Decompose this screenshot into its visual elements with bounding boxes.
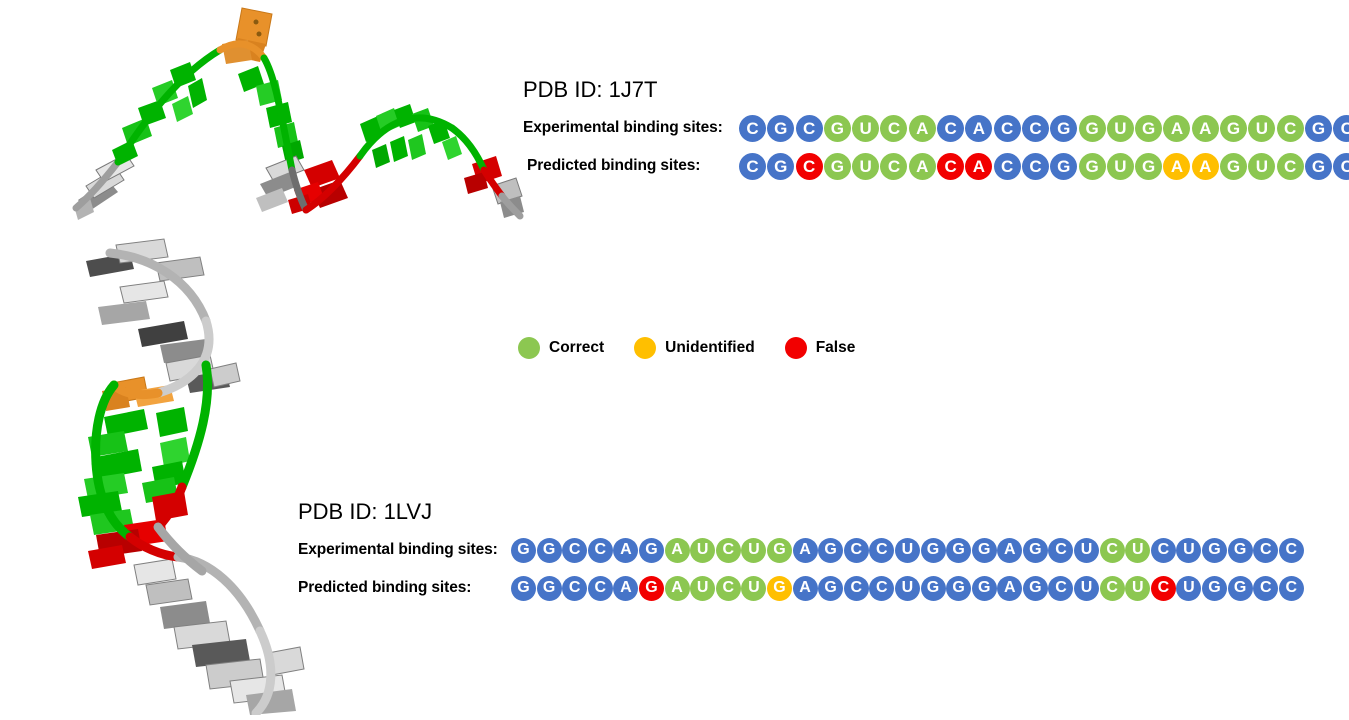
nucleotide-U-5: U (852, 153, 879, 180)
predicted-sequence-1j7t: CGCGUCACACCGGUGAAGUCGC (739, 153, 1349, 180)
nucleotide-U-27: U (1176, 538, 1201, 563)
nucleotide-U-25: U (1125, 576, 1150, 601)
nucleotide-A-20: A (997, 576, 1022, 601)
nucleotide-U-23: U (1074, 538, 1099, 563)
nucleotide-G-13: G (1079, 153, 1106, 180)
panel-1lvj: PDB ID: 1LVJ Experimental binding sites:… (298, 500, 1304, 605)
nucleotide-C-26: C (1151, 576, 1176, 601)
nucleotide-A-12: A (793, 576, 818, 601)
nucleotide-C-3: C (562, 538, 587, 563)
nucleotide-U-27: U (1176, 576, 1201, 601)
nucleotide-G-2: G (767, 115, 794, 142)
legend-item-false: False (785, 337, 856, 359)
prediction-outcome-legend: CorrectUnidentifiedFalse (518, 337, 855, 359)
nucleotide-C-6: C (880, 153, 907, 180)
nucleotide-C-24: C (1100, 576, 1125, 601)
nucleotide-G-4: G (824, 153, 851, 180)
nucleotide-G-17: G (921, 576, 946, 601)
nucleotide-U-25: U (1125, 538, 1150, 563)
nucleotide-A-7: A (909, 115, 936, 142)
experimental-row-1lvj: Experimental binding sites: GGCCAGAUCUGA… (298, 533, 1304, 567)
structure-1j7t-backbone (76, 44, 520, 216)
nucleotide-C-15: C (869, 538, 894, 563)
nucleotide-G-1: G (511, 576, 536, 601)
nucleotide-C-24: C (1100, 538, 1125, 563)
nucleotide-A-9: A (965, 153, 992, 180)
nucleotide-G-19: G (972, 576, 997, 601)
nucleotide-G-21: G (1305, 115, 1332, 142)
nucleotide-C-4: C (588, 538, 613, 563)
nucleotide-C-31: C (1279, 538, 1304, 563)
red-circle-icon (785, 337, 807, 359)
nucleotide-C-11: C (1022, 115, 1049, 142)
nucleotide-C-26: C (1151, 538, 1176, 563)
legend-label: Unidentified (665, 339, 755, 357)
nucleotide-C-8: C (937, 115, 964, 142)
nucleotide-G-12: G (1050, 115, 1077, 142)
nucleotide-G-18: G (946, 538, 971, 563)
rna-structure-1lvj-svg (60, 235, 390, 715)
nucleotide-G-19: G (972, 538, 997, 563)
pdb-title-1lvj: PDB ID: 1LVJ (298, 500, 1304, 524)
nucleotide-G-4: G (824, 115, 851, 142)
predicted-row-1lvj: Predicted binding sites: GGCCAGAUCUGAGCC… (298, 571, 1304, 605)
nucleotide-C-1: C (739, 153, 766, 180)
experimental-sequence-1lvj: GGCCAGAUCUGAGCCUGGGAGCUCUCUGGCC (511, 538, 1304, 563)
experimental-sequence-1j7t: CGCGUCACACCGGUGAAGUCGC (739, 115, 1349, 142)
nucleotide-A-9: A (965, 115, 992, 142)
nucleotide-C-14: C (844, 538, 869, 563)
nucleotide-U-19: U (1248, 153, 1275, 180)
nucleotide-C-11: C (1022, 153, 1049, 180)
nucleotide-G-21: G (1023, 576, 1048, 601)
nucleotide-U-8: U (690, 538, 715, 563)
nucleotide-G-21: G (1023, 538, 1048, 563)
legend-label: Correct (549, 339, 604, 357)
nucleotide-U-23: U (1074, 576, 1099, 601)
green-circle-icon (518, 337, 540, 359)
predicted-label-1lvj: Predicted binding sites: (298, 579, 511, 597)
experimental-label-1lvj: Experimental binding sites: (298, 541, 511, 559)
nucleotide-G-2: G (537, 576, 562, 601)
nucleotide-U-16: U (895, 538, 920, 563)
nucleotide-G-21: G (1305, 153, 1332, 180)
legend-item-correct: Correct (518, 337, 604, 359)
nucleotide-C-30: C (1253, 538, 1278, 563)
nucleotide-C-3: C (796, 115, 823, 142)
nucleotide-C-10: C (994, 153, 1021, 180)
nucleotide-C-22: C (1048, 576, 1073, 601)
nucleotide-C-15: C (869, 576, 894, 601)
nucleotide-A-16: A (1163, 153, 1190, 180)
orange-circle-icon (634, 337, 656, 359)
nucleotide-U-5: U (852, 115, 879, 142)
nucleotide-A-5: A (613, 576, 638, 601)
predicted-sequence-1lvj: GGCCAGAUCUGAGCCUGGGAGCUCUCUGGCC (511, 576, 1304, 601)
nucleotide-C-14: C (844, 576, 869, 601)
nucleotide-C-4: C (588, 576, 613, 601)
nucleotide-C-3: C (796, 153, 823, 180)
nucleotide-U-10: U (741, 538, 766, 563)
nucleotide-G-18: G (1220, 115, 1247, 142)
nucleotide-G-29: G (1228, 576, 1253, 601)
nucleotide-U-8: U (690, 576, 715, 601)
nucleotide-G-2: G (767, 153, 794, 180)
nucleotide-A-7: A (665, 576, 690, 601)
nucleotide-G-17: G (921, 538, 946, 563)
nucleotide-A-5: A (613, 538, 638, 563)
nucleotide-U-14: U (1107, 153, 1134, 180)
structure-1lvj-bases (78, 239, 304, 715)
nucleotide-C-9: C (716, 576, 741, 601)
experimental-label-1j7t: Experimental binding sites: (523, 119, 739, 137)
nucleotide-A-7: A (665, 538, 690, 563)
nucleotide-C-31: C (1279, 576, 1304, 601)
nucleotide-G-18: G (1220, 153, 1247, 180)
nucleotide-G-28: G (1202, 538, 1227, 563)
nucleotide-A-12: A (793, 538, 818, 563)
nucleotide-G-29: G (1228, 538, 1253, 563)
nucleotide-C-10: C (994, 115, 1021, 142)
nucleotide-G-11: G (767, 538, 792, 563)
nucleotide-C-22: C (1048, 538, 1073, 563)
nucleotide-C-3: C (562, 576, 587, 601)
nucleotide-A-7: A (909, 153, 936, 180)
rna-structure-1lvj (60, 235, 390, 715)
nucleotide-G-18: G (946, 576, 971, 601)
nucleotide-G-15: G (1135, 153, 1162, 180)
nucleotide-G-6: G (639, 576, 664, 601)
nucleotide-G-13: G (818, 576, 843, 601)
pdb-title-1j7t: PDB ID: 1J7T (523, 78, 1349, 102)
nucleotide-C-1: C (739, 115, 766, 142)
panel-1j7t: PDB ID: 1J7T Experimental binding sites:… (523, 78, 1349, 183)
nucleotide-C-22: C (1333, 115, 1349, 142)
nucleotide-G-11: G (767, 576, 792, 601)
nucleotide-A-17: A (1192, 115, 1219, 142)
nucleotide-G-15: G (1135, 115, 1162, 142)
nucleotide-G-28: G (1202, 576, 1227, 601)
experimental-row-1j7t: Experimental binding sites: CGCGUCACACCG… (523, 111, 1349, 145)
nucleotide-C-20: C (1277, 153, 1304, 180)
nucleotide-C-9: C (716, 538, 741, 563)
nucleotide-G-6: G (639, 538, 664, 563)
nucleotide-G-13: G (1079, 115, 1106, 142)
nucleotide-A-16: A (1163, 115, 1190, 142)
nucleotide-C-22: C (1333, 153, 1349, 180)
legend-label: False (816, 339, 856, 357)
nucleotide-U-10: U (741, 576, 766, 601)
nucleotide-G-2: G (537, 538, 562, 563)
nucleotide-G-13: G (818, 538, 843, 563)
legend-item-unidentified: Unidentified (634, 337, 755, 359)
nucleotide-U-16: U (895, 576, 920, 601)
nucleotide-C-20: C (1277, 115, 1304, 142)
rna-structure-1j7t (60, 0, 540, 250)
nucleotide-C-8: C (937, 153, 964, 180)
nucleotide-U-19: U (1248, 115, 1275, 142)
rna-structure-1j7t-svg (60, 0, 540, 250)
nucleotide-C-6: C (880, 115, 907, 142)
nucleotide-G-1: G (511, 538, 536, 563)
nucleotide-A-17: A (1192, 153, 1219, 180)
predicted-label-1j7t: Predicted binding sites: (523, 157, 739, 175)
nucleotide-G-12: G (1050, 153, 1077, 180)
nucleotide-U-14: U (1107, 115, 1134, 142)
nucleotide-A-20: A (997, 538, 1022, 563)
nucleotide-C-30: C (1253, 576, 1278, 601)
predicted-row-1j7t: Predicted binding sites: CGCGUCACACCGGUG… (523, 149, 1349, 183)
